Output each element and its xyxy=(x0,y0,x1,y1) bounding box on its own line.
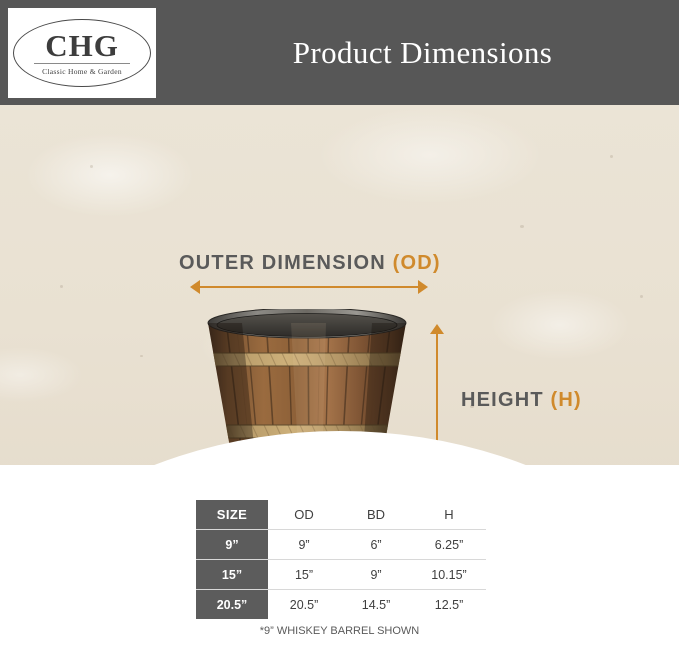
cell-size: 9” xyxy=(196,530,268,560)
page-header: CHG Classic Home & Garden Product Dimens… xyxy=(0,0,679,105)
texture-speck xyxy=(90,165,93,168)
dimensions-table: SIZE OD BD H 9” 9” 6” 6.25” 15” 15” 9” 1 xyxy=(196,500,486,619)
column-header-h: H xyxy=(412,500,486,530)
texture-speck xyxy=(640,295,643,298)
cell-od: 20.5” xyxy=(268,590,340,620)
table-body: 9” 9” 6” 6.25” 15” 15” 9” 10.15” 20.5” 2… xyxy=(196,530,486,620)
height-label: HEIGHT (H) xyxy=(461,389,582,412)
texture-speck xyxy=(140,355,143,357)
page-title: Product Dimensions xyxy=(166,0,679,105)
table-header-row: SIZE OD BD H xyxy=(196,500,486,530)
dimensions-table-wrapper: SIZE OD BD H 9” 9” 6” 6.25” 15” 15” 9” 1 xyxy=(196,500,486,619)
cell-od: 15” xyxy=(268,560,340,590)
column-header-od: OD xyxy=(268,500,340,530)
arrow-head-right-icon xyxy=(418,280,428,294)
table-row: 9” 9” 6” 6.25” xyxy=(196,530,486,560)
height-abbr: (H) xyxy=(551,389,582,411)
logo-mark-text: CHG xyxy=(45,30,119,61)
height-text: HEIGHT xyxy=(461,389,544,411)
outer-dimension-label: OUTER DIMENSION (OD) xyxy=(179,252,441,275)
cell-size: 20.5” xyxy=(196,590,268,620)
logo-divider xyxy=(34,63,130,64)
cell-od: 9” xyxy=(268,530,340,560)
cell-size: 15” xyxy=(196,560,268,590)
outer-dimension-abbr: (OD) xyxy=(393,252,441,274)
arrow-line xyxy=(198,286,420,288)
cell-bd: 14.5” xyxy=(340,590,412,620)
brand-logo: CHG Classic Home & Garden xyxy=(8,8,156,98)
cell-h: 6.25” xyxy=(412,530,486,560)
cell-bd: 9” xyxy=(340,560,412,590)
table-head: SIZE OD BD H xyxy=(196,500,486,530)
diagram-panel: OUTER DIMENSION (OD) BASE DIMENSION (BD)… xyxy=(0,105,679,465)
table-footnote: *9” WHISKEY BARREL SHOWN xyxy=(0,625,679,637)
texture-speck xyxy=(60,285,63,288)
product-dimensions-page: CHG Classic Home & Garden Product Dimens… xyxy=(0,0,679,653)
texture-speck xyxy=(520,225,524,228)
column-header-bd: BD xyxy=(340,500,412,530)
column-header-size: SIZE xyxy=(196,500,268,530)
cell-h: 12.5” xyxy=(412,590,486,620)
logo-tagline: Classic Home & Garden xyxy=(42,67,122,76)
logo-oval-frame: CHG Classic Home & Garden xyxy=(13,19,151,87)
table-row: 15” 15” 9” 10.15” xyxy=(196,560,486,590)
outer-dimension-arrow xyxy=(190,280,428,294)
cell-bd: 6” xyxy=(340,530,412,560)
outer-dimension-text: OUTER DIMENSION xyxy=(179,252,386,274)
texture-speck xyxy=(610,155,613,158)
cell-h: 10.15” xyxy=(412,560,486,590)
table-row: 20.5” 20.5” 14.5” 12.5” xyxy=(196,590,486,620)
